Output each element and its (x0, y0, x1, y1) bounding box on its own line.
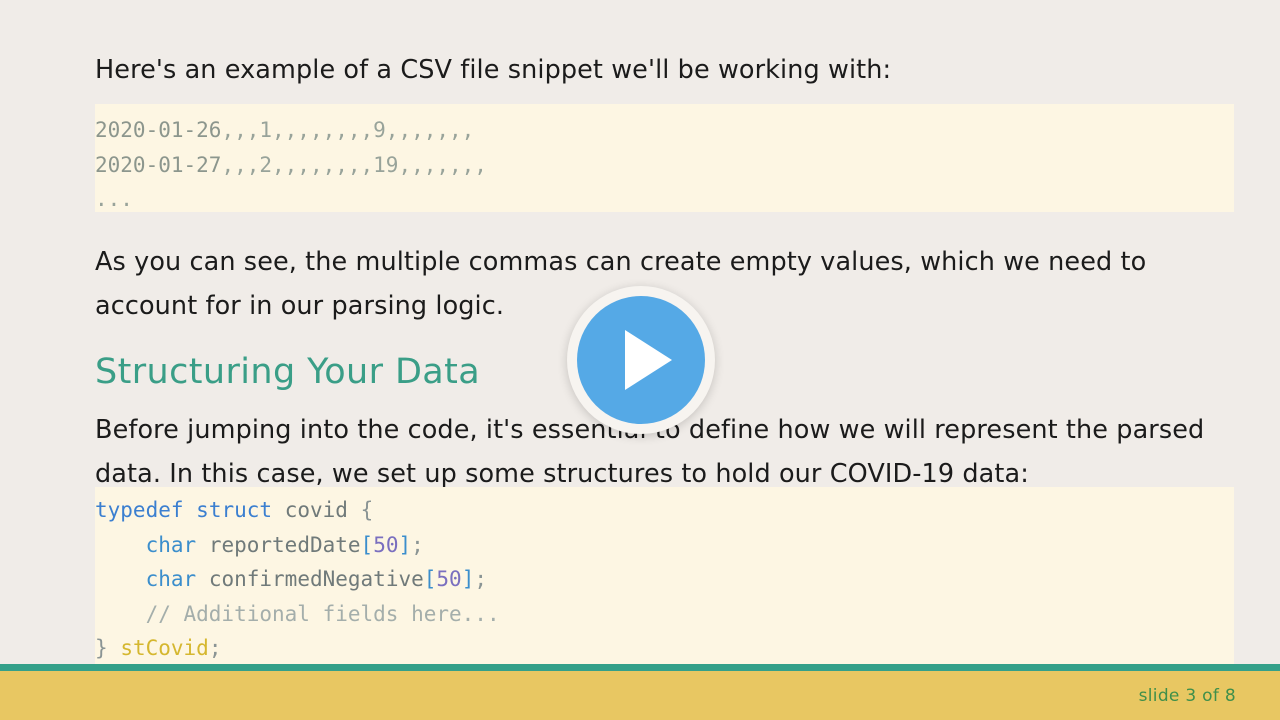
code-semicolon-2: ; (474, 567, 487, 591)
csv-line-2-date: 2020-01-27 (95, 153, 221, 177)
code-type-char-1: char (146, 533, 197, 557)
csv-code-block: 2020-01-26,,,1,,,,,,,,9,,,,,,, 2020-01-2… (95, 104, 1234, 212)
code-typename-stcovid: stCovid (120, 636, 209, 660)
code-keyword-typedef: typedef (95, 498, 184, 522)
code-keyword-struct: struct (196, 498, 272, 522)
code-indent-4 (95, 602, 146, 626)
csv-line-2: 2020-01-27,,,2,,,,,,,,19,,,,,,, (95, 153, 487, 177)
code-ident-reporteddate: reportedDate (209, 533, 361, 557)
slide-content: Here's an example of a CSV file snippet … (95, 48, 1235, 110)
play-button-disc (577, 296, 705, 424)
code-semicolon-3: ; (209, 636, 222, 660)
code-ident-covid: covid (285, 498, 348, 522)
code-semicolon-1: ; (411, 533, 424, 557)
csv-line-2-fields: ,,,2,,,,,,,,19,,,,,,, (221, 153, 487, 177)
code-type-char-2: char (146, 567, 197, 591)
csv-line-3-ellipsis: ... (95, 187, 133, 211)
code-comment: // Additional fields here... (146, 602, 500, 626)
csv-line-1: 2020-01-26,,,1,,,,,,,,9,,,,,,, (95, 118, 474, 142)
code-ident-confirmednegative: confirmedNegative (209, 567, 424, 591)
footer-divider (0, 664, 1280, 671)
code-bracket-open-1: [ (361, 533, 374, 557)
slide-counter: slide 3 of 8 (1139, 686, 1236, 706)
code-brace-close: } (95, 636, 108, 660)
intro-paragraph: Here's an example of a CSV file snippet … (95, 48, 1235, 92)
play-button[interactable] (567, 286, 715, 434)
play-triangle-icon (625, 330, 672, 390)
code-bracket-close-1: ] (398, 533, 411, 557)
code-indent-3 (95, 567, 146, 591)
code-bracket-open-2: [ (424, 567, 437, 591)
code-brace-open: { (361, 498, 374, 522)
c-struct-code-block: typedef struct covid { char reportedDate… (95, 487, 1234, 665)
code-indent-2 (95, 533, 146, 557)
footer-bar (0, 671, 1280, 720)
code-number-50-2: 50 (436, 567, 461, 591)
csv-line-1-date: 2020-01-26 (95, 118, 221, 142)
slide-canvas: Here's an example of a CSV file snippet … (0, 0, 1280, 720)
code-number-50-1: 50 (373, 533, 398, 557)
code-bracket-close-2: ] (462, 567, 475, 591)
csv-line-1-fields: ,,,1,,,,,,,,9,,,,,,, (221, 118, 474, 142)
